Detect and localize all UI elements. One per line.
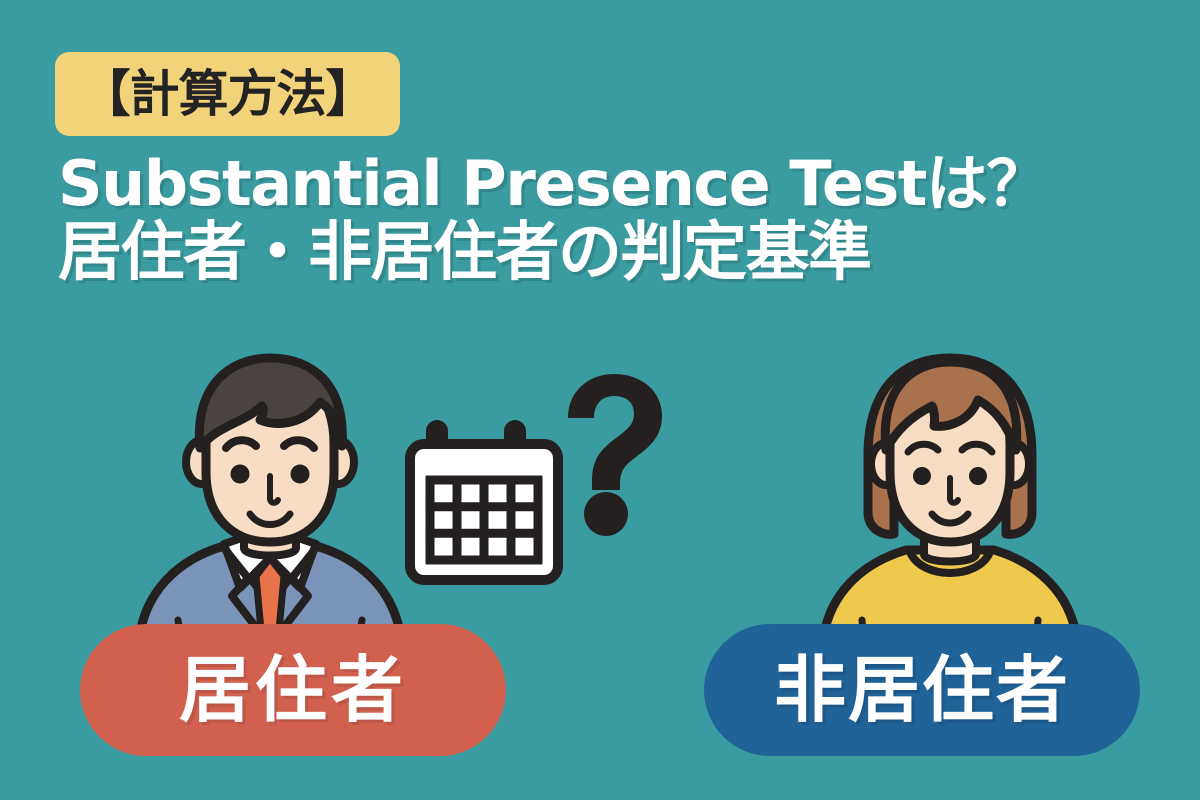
thumbnail-canvas: 【計算方法】 Substantial Presence Testは？ 居住者・非…: [0, 0, 1200, 800]
businessman-avatar: [120, 352, 420, 652]
pill-resident[interactable]: 居住者: [80, 624, 506, 756]
pill-non-resident[interactable]: 非居住者: [704, 624, 1140, 756]
pill-non-resident-label: 非居住者: [774, 654, 1070, 726]
title-block: Substantial Presence Testは？ 居住者・非居住者の判定基…: [58, 152, 1168, 287]
category-badge-label: 【計算方法】: [81, 69, 375, 119]
pill-resident-label: 居住者: [179, 654, 407, 726]
title-line-2: 居住者・非居住者の判定基準: [58, 220, 1168, 287]
question-mark-icon: [552, 372, 668, 537]
calendar-icon: [404, 418, 564, 586]
category-badge: 【計算方法】: [55, 52, 400, 136]
title-line-1: Substantial Presence Testは？: [58, 152, 1168, 216]
woman-avatar: [800, 348, 1100, 653]
